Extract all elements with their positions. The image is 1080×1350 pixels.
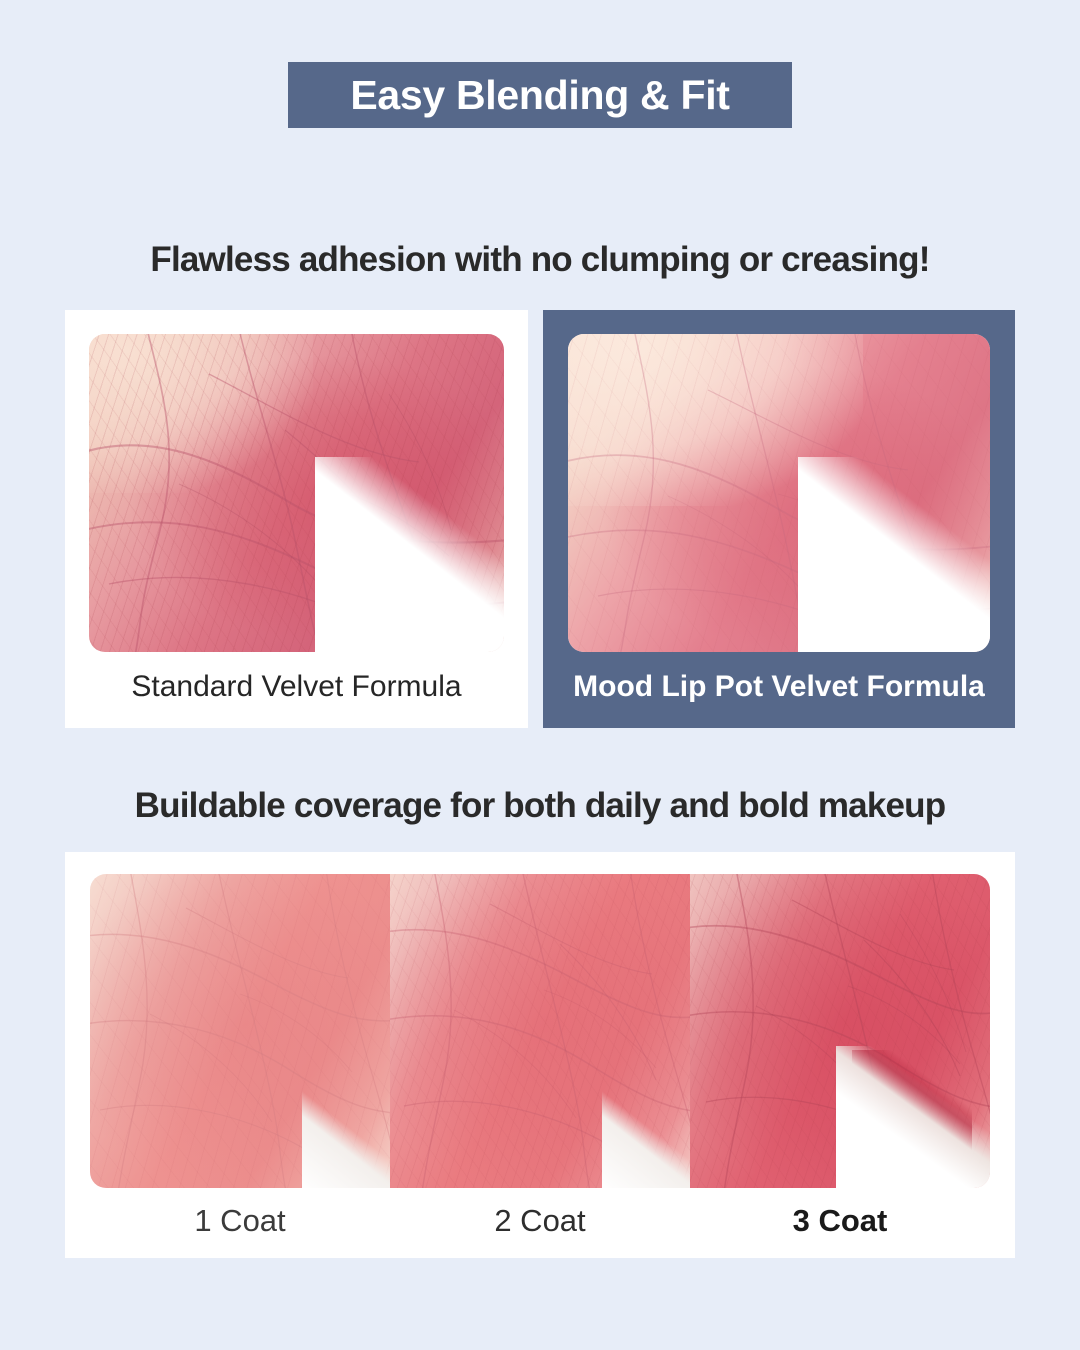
- hand-edge-background: [602, 1083, 690, 1188]
- hand-edge-background: [315, 457, 504, 652]
- comparison-row: Standard Velvet Formula: [0, 310, 1080, 728]
- section-heading-buildable: Buildable coverage for both daily and bo…: [0, 786, 1080, 826]
- hand-edge-background: [798, 457, 990, 652]
- coat-swatch-strip: [90, 874, 990, 1188]
- comparison-label-mood-lip-pot: Mood Lip Pot Velvet Formula: [573, 670, 985, 703]
- comparison-card-standard: Standard Velvet Formula: [65, 310, 528, 728]
- title-banner: Easy Blending & Fit: [288, 62, 792, 128]
- coat-label-3: 3 Coat: [793, 1205, 888, 1236]
- hand-edge-background: [302, 1083, 390, 1188]
- coat-swatch-1: [90, 874, 390, 1188]
- coat-label-row: 1 Coat 2 Coat 3 Coat: [90, 1197, 990, 1243]
- swatch-photo-standard: [89, 334, 504, 652]
- swatch-photo-mood-lip-pot: [568, 334, 990, 652]
- page-title: Easy Blending & Fit: [350, 75, 729, 116]
- coat-label-1: 1 Coat: [194, 1205, 285, 1236]
- comparison-label-standard: Standard Velvet Formula: [131, 670, 461, 703]
- coat-swatch-3: [690, 874, 990, 1188]
- deep-pigment-edge: [852, 1050, 972, 1157]
- coat-label-cell-2: 2 Coat: [390, 1197, 690, 1243]
- coat-label-cell-3: 3 Coat: [690, 1197, 990, 1243]
- buildable-coverage-card: 1 Coat 2 Coat 3 Coat: [65, 852, 1015, 1258]
- coat-label-cell-1: 1 Coat: [90, 1197, 390, 1243]
- section-heading-adhesion: Flawless adhesion with no clumping or cr…: [0, 240, 1080, 280]
- comparison-card-mood-lip-pot: Mood Lip Pot Velvet Formula: [543, 310, 1015, 728]
- coat-label-2: 2 Coat: [494, 1205, 585, 1236]
- coat-swatch-2: [390, 874, 690, 1188]
